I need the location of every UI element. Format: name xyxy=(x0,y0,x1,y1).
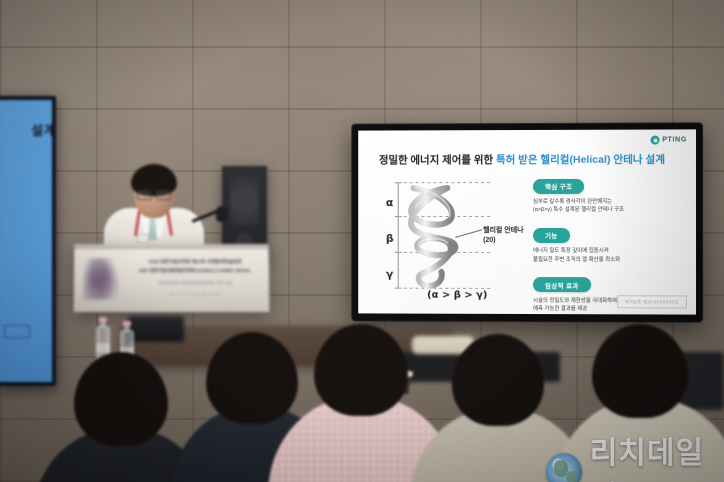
photo-scene: 설계 PTING 정밀한 에너지 제어를 위한 특허 받은 헬리컬(Helica… xyxy=(0,0,724,482)
photo-vignette xyxy=(0,0,724,482)
